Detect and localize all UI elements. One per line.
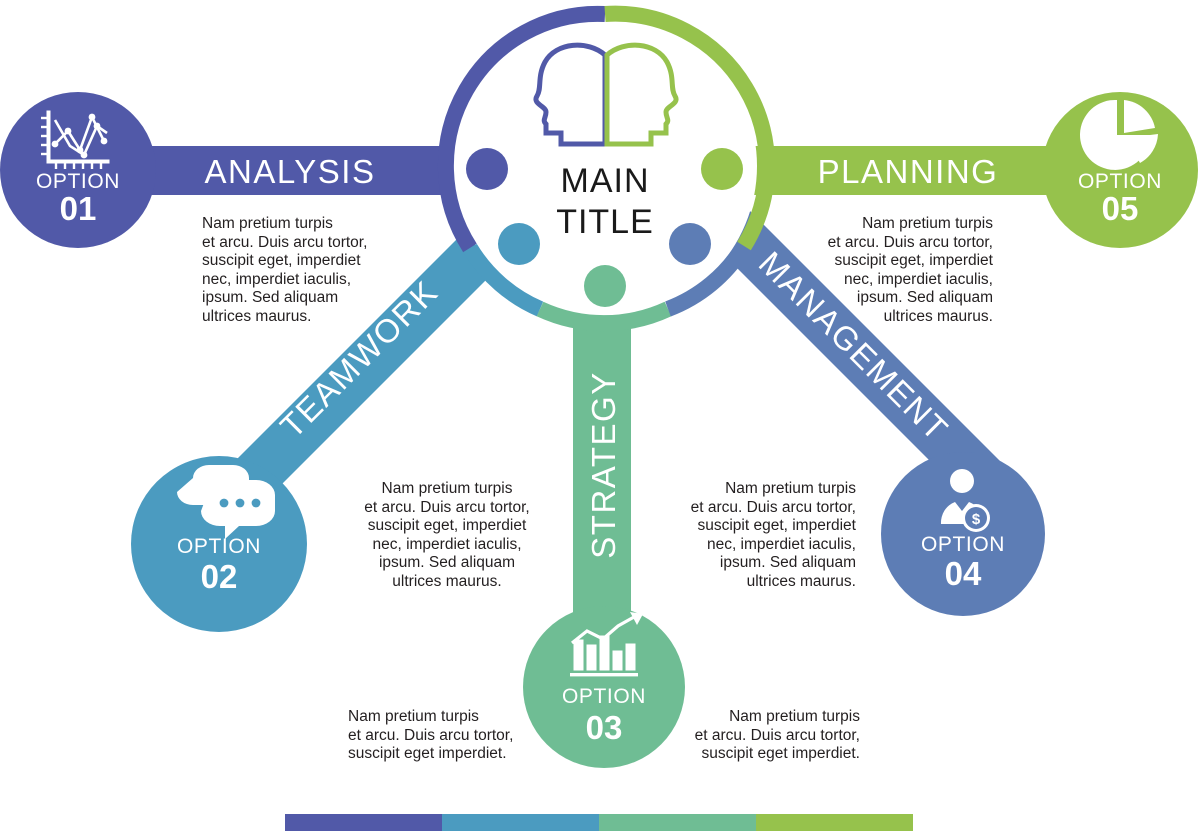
svg-text:$: $ [972, 511, 981, 528]
band-label-analysis: ANALYSIS [205, 153, 376, 190]
node-option-01[interactable]: OPTION 01 [0, 92, 156, 248]
body-text-planning: Nam pretium turpis et arcu. Duis arcu to… [825, 215, 993, 326]
band-label-planning: PLANNING [818, 153, 999, 190]
node-02-option-label: OPTION [177, 535, 261, 558]
dot-planning [701, 148, 743, 190]
main-title-line1: MAIN [561, 162, 650, 200]
footer-segment-4 [756, 814, 913, 831]
node-option-03[interactable]: OPTION 03 [523, 606, 685, 768]
dot-analysis [466, 148, 508, 190]
body-text-strategy-left: Nam pretium turpis et arcu. Duis arcu to… [348, 708, 533, 764]
infographic-canvas: MAIN TITLE ANALYSIS PLANNING TEAMWORK MA… [0, 0, 1200, 831]
band-label-strategy: STRATEGY [585, 371, 622, 558]
dot-management [669, 223, 711, 265]
body-text-analysis: Nam pretium turpis et arcu. Duis arcu to… [202, 215, 432, 326]
node-03-number: 03 [586, 709, 623, 746]
node-05-number: 05 [1102, 190, 1139, 227]
body-text-management: Nam pretium turpis et arcu. Duis arcu to… [676, 480, 856, 591]
node-04-number: 04 [945, 555, 982, 592]
footer-segment-1 [285, 814, 442, 831]
diagram-svg: MAIN TITLE ANALYSIS PLANNING TEAMWORK MA… [0, 0, 1200, 831]
dot-teamwork [498, 223, 540, 265]
footer-segment-2 [442, 814, 599, 831]
dot-strategy [584, 265, 626, 307]
node-01-number: 01 [60, 190, 97, 227]
footer-segment-3 [599, 814, 756, 831]
main-title-line2: TITLE [556, 203, 654, 241]
body-text-teamwork: Nam pretium turpis et arcu. Duis arcu to… [352, 480, 542, 591]
body-text-strategy-right: Nam pretium turpis et arcu. Duis arcu to… [690, 708, 860, 764]
node-option-04[interactable]: $ OPTION 04 [881, 452, 1045, 616]
footer-color-bar [285, 814, 913, 831]
node-03-option-label: OPTION [562, 685, 646, 708]
node-option-05[interactable]: OPTION 05 [1042, 92, 1198, 248]
node-04-option-label: OPTION [921, 533, 1005, 556]
node-option-02[interactable]: OPTION 02 [131, 456, 307, 632]
node-02-number: 02 [201, 558, 238, 595]
